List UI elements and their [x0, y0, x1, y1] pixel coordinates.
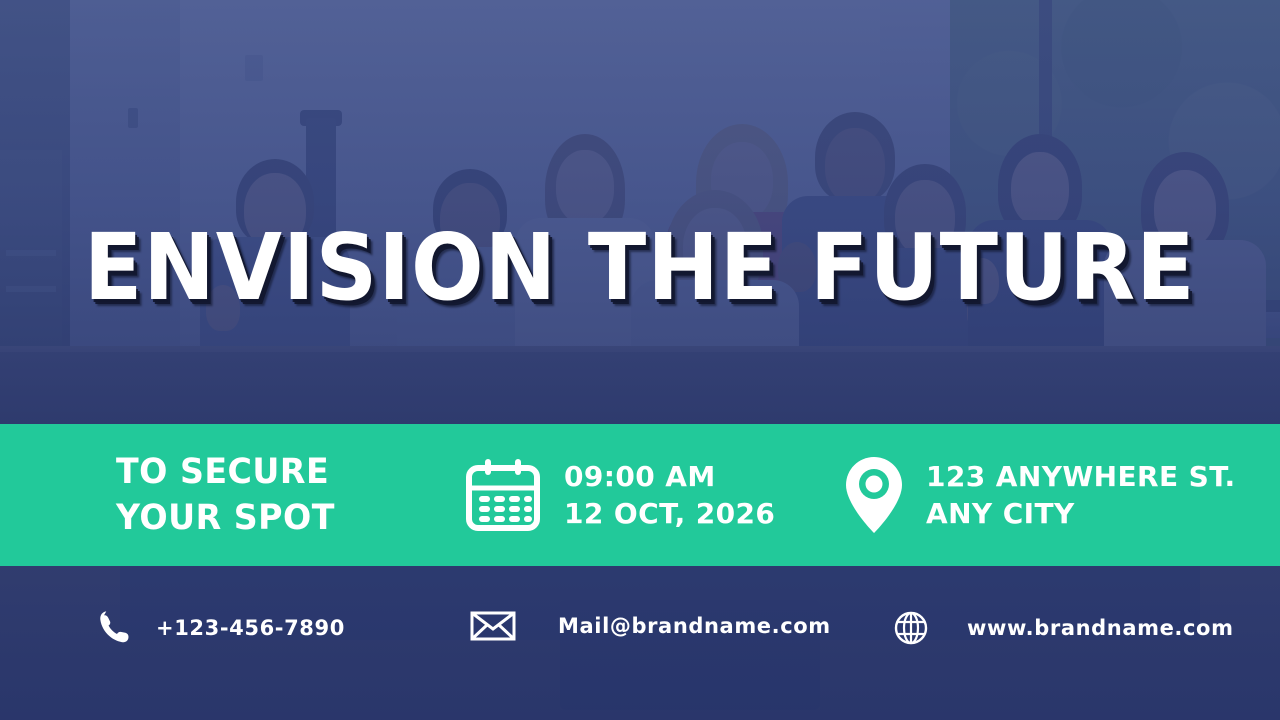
contact-footer: +123-456-7890 Mail@brandname.com	[0, 566, 1280, 720]
cta-block: TO SECURE YOUR SPOT	[116, 449, 446, 541]
website-url: www.brandname.com	[967, 616, 1234, 640]
event-date-text: 09:00 AM 12 OCT, 2026	[564, 458, 775, 532]
contact-website[interactable]: www.brandname.com	[893, 610, 1234, 646]
event-date-block: 09:00 AM 12 OCT, 2026	[464, 456, 844, 534]
event-poster: ENVISION THE FUTURE TO SECURE YOUR SPOT	[0, 0, 1280, 720]
location-line-2: ANY CITY	[926, 495, 1236, 532]
cta-text: TO SECURE YOUR SPOT	[116, 449, 335, 541]
phone-icon	[100, 610, 130, 646]
hero-title-container: ENVISION THE FUTURE	[0, 222, 1280, 314]
event-date: 12 OCT, 2026	[564, 495, 775, 532]
map-pin-icon	[844, 455, 904, 535]
event-location-block: 123 ANYWHERE ST. ANY CITY	[844, 455, 1236, 535]
phone-number: +123-456-7890	[156, 616, 345, 640]
calendar-icon	[464, 456, 542, 534]
cta-line-2: YOUR SPOT	[116, 495, 335, 541]
globe-icon	[893, 610, 929, 646]
page-title: ENVISION THE FUTURE	[84, 222, 1196, 314]
contact-email[interactable]: Mail@brandname.com	[470, 610, 831, 642]
location-line-1: 123 ANYWHERE ST.	[926, 460, 1236, 493]
envelope-icon	[470, 610, 516, 642]
email-address: Mail@brandname.com	[558, 614, 831, 638]
cta-line-1: TO SECURE	[116, 452, 329, 492]
hero-blue-overlay	[0, 0, 1280, 424]
event-time: 09:00 AM	[564, 460, 716, 493]
event-location-text: 123 ANYWHERE ST. ANY CITY	[926, 458, 1236, 532]
contact-phone[interactable]: +123-456-7890	[100, 610, 345, 646]
event-info-band: TO SECURE YOUR SPOT	[0, 424, 1280, 566]
